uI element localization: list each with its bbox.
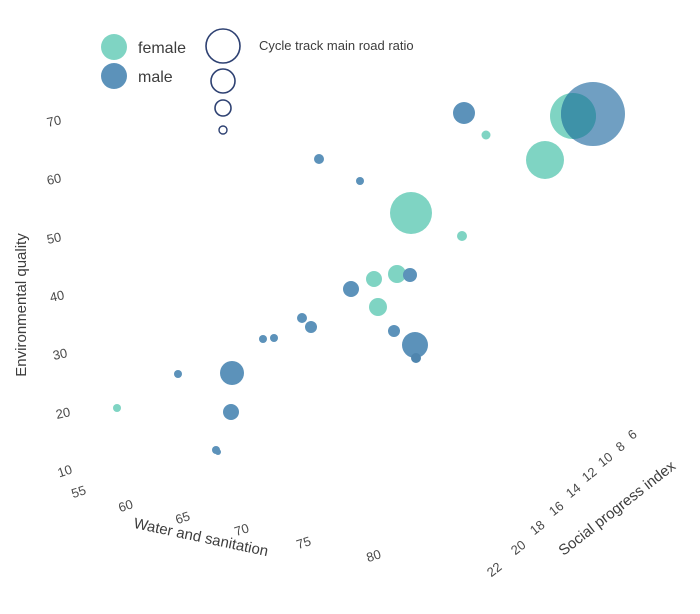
size-legend-bubble[interactable] [219, 126, 227, 134]
chart-canvas[interactable]: 70 60 50 40 30 20 10 Environmental quali… [0, 0, 700, 614]
legend-swatch-male[interactable] [101, 63, 127, 89]
y-tick-label: 10 [56, 462, 74, 481]
x-tick-label: 80 [364, 546, 382, 565]
legend-label-female: female [138, 40, 186, 57]
bubble-male[interactable] [356, 177, 364, 185]
bubble-male[interactable] [174, 370, 182, 378]
bubble-series-female[interactable] [113, 93, 596, 412]
bubble-male[interactable] [343, 281, 359, 297]
bubble-male[interactable] [270, 334, 278, 342]
bubble-male[interactable] [305, 321, 317, 333]
y-tick-label: 60 [45, 170, 62, 188]
z-tick-label: 20 [508, 537, 529, 558]
bubble-male[interactable] [411, 353, 421, 363]
bubble-male[interactable] [314, 154, 324, 164]
z-tick-label: 18 [527, 517, 548, 538]
z-axis-title: Social progress index [555, 457, 679, 559]
y-tick-label: 40 [48, 287, 65, 305]
z-tick-label: 12 [579, 464, 600, 485]
bubble-male[interactable] [223, 404, 239, 420]
z-tick-label: 22 [484, 559, 505, 580]
bubble-male[interactable] [297, 313, 307, 323]
size-legend-bubble[interactable] [211, 69, 235, 93]
y-tick-label: 70 [45, 112, 62, 130]
x-tick-label: 75 [294, 533, 312, 552]
bubble-female[interactable] [457, 231, 467, 241]
z-tick-label: 8 [613, 438, 628, 454]
bubble-male[interactable] [403, 268, 417, 282]
bubble-female[interactable] [390, 192, 432, 234]
z-tick-label: 14 [563, 480, 584, 501]
bubble-female[interactable] [113, 404, 121, 412]
y-axis-ticks: 70 60 50 40 30 20 10 [45, 112, 74, 480]
size-legend-bubble[interactable] [206, 29, 240, 63]
x-axis-title: Water and sanitation [132, 515, 270, 560]
size-legend[interactable]: Cycle track main road ratio [206, 29, 414, 134]
legend-label-male: male [138, 69, 173, 86]
y-axis-title: Environmental quality [13, 233, 30, 377]
x-tick-label: 60 [116, 496, 134, 515]
z-tick-label: 10 [595, 449, 616, 470]
bubble-male[interactable] [259, 335, 267, 343]
size-legend-bubble[interactable] [215, 100, 231, 116]
bubble-chart-3d: 70 60 50 40 30 20 10 Environmental quali… [0, 0, 700, 614]
y-tick-label: 30 [51, 345, 68, 363]
bubble-male[interactable] [220, 361, 244, 385]
bubble-male[interactable] [453, 102, 475, 124]
z-tick-label: 6 [625, 426, 640, 442]
z-tick-label: 16 [546, 498, 567, 519]
bubble-female[interactable] [366, 271, 382, 287]
x-tick-label: 55 [69, 482, 87, 501]
y-tick-label: 20 [54, 404, 71, 422]
bubble-female[interactable] [526, 141, 564, 179]
bubble-female[interactable] [482, 131, 491, 140]
x-axis-ticks: 55 60 65 70 75 80 [69, 482, 382, 565]
legend-swatch-female[interactable] [101, 34, 127, 60]
bubble-female[interactable] [369, 298, 387, 316]
bubble-male[interactable] [215, 449, 221, 455]
y-tick-label: 50 [45, 229, 62, 247]
size-legend-title: Cycle track main road ratio [259, 38, 414, 53]
color-legend[interactable]: female male [101, 34, 186, 89]
bubble-male[interactable] [388, 325, 400, 337]
